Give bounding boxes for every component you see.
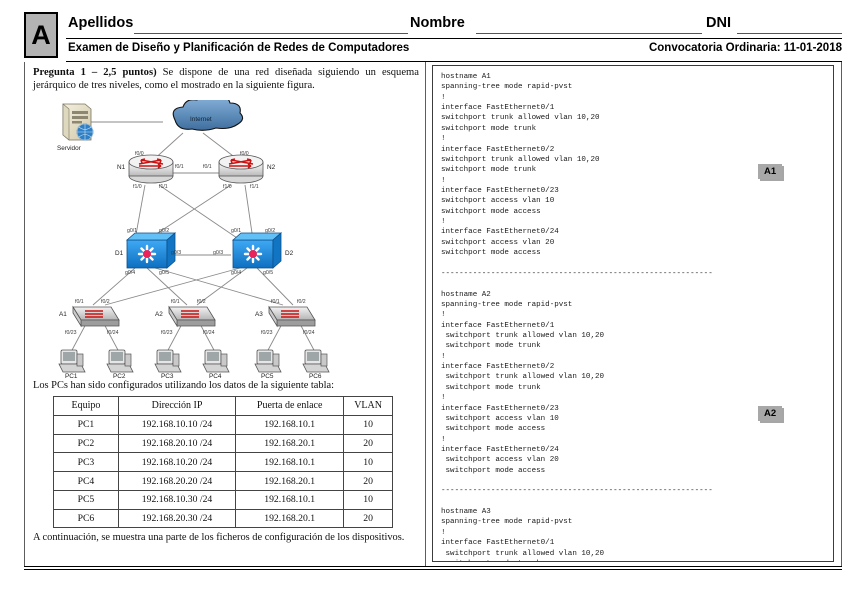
- cell-gateway: 192.168.20.1: [236, 434, 344, 453]
- pc3-label: PC3: [161, 373, 173, 380]
- cell-ip: 192.168.20.20 /24: [118, 472, 235, 491]
- network-topology-diagram: Servidor Internet N1 N2 D1 D2 A1 A2 A3 P…: [35, 100, 415, 375]
- cell-ip: 192.168.10.20 /24: [118, 453, 235, 472]
- cell-ip: 192.168.10.30 /24: [118, 490, 235, 509]
- port-a1-24: f0/24: [107, 330, 119, 336]
- label-apellidos: Apellidos: [68, 15, 133, 31]
- port-d1-up-left: g0/1: [127, 228, 137, 234]
- cloud-label: Internet: [190, 116, 212, 123]
- cell-equipo: PC6: [54, 509, 119, 528]
- label-nombre: Nombre: [410, 15, 465, 31]
- port-n2-up: f0/0: [240, 151, 249, 157]
- switch-a2-label: A2: [155, 311, 163, 318]
- switch-a3-icon: [269, 307, 315, 326]
- device-tag-a1: A1: [758, 164, 782, 179]
- apellidos-blank-line[interactable]: [134, 33, 408, 34]
- device-tag-a2: A2: [758, 406, 782, 421]
- header-fields: Apellidos Nombre DNI Examen de Diseño y …: [66, 12, 842, 58]
- server-icon: [63, 104, 93, 140]
- switch-d2-icon: [233, 233, 281, 268]
- dni-blank-line[interactable]: [737, 33, 842, 34]
- router-n2-icon: [219, 155, 263, 183]
- nombre-blank-line[interactable]: [476, 33, 702, 34]
- port-a2-23: f0/23: [161, 330, 173, 336]
- port-n1-up: f0/0: [135, 151, 144, 157]
- header-title-row: Examen de Diseño y Planificación de Rede…: [66, 38, 842, 59]
- cell-ip: 192.168.20.10 /24: [118, 434, 235, 453]
- port-d1-up-right: g0/2: [159, 228, 169, 234]
- table-row: PC5 192.168.10.30 /24 192.168.10.1 10: [54, 490, 393, 509]
- cell-gateway: 192.168.10.1: [236, 415, 344, 434]
- router-n1-icon: [129, 155, 173, 183]
- table-header-row: Equipo Dirección IP Puerta de enlace VLA…: [54, 397, 393, 416]
- right-column: hostname A1 spanning-tree mode rapid-pvs…: [426, 62, 843, 567]
- table-row: PC3 192.168.10.20 /24 192.168.10.1 10: [54, 453, 393, 472]
- switch-d2-label: D2: [285, 250, 293, 257]
- port-d1-right: g0/3: [171, 250, 181, 256]
- port-n2-down-right: f1/1: [250, 184, 259, 190]
- port-a1-up-right: f0/2: [101, 299, 110, 305]
- port-a1-up-left: f0/1: [75, 299, 84, 305]
- port-d2-down-right: g0/5: [263, 270, 273, 276]
- switch-a3-label: A3: [255, 311, 263, 318]
- port-a3-up-right: f0/2: [297, 299, 306, 305]
- pc5-label: PC5: [261, 373, 273, 380]
- cell-equipo: PC4: [54, 472, 119, 491]
- cell-vlan: 20: [344, 434, 393, 453]
- topology-svg: [35, 100, 415, 375]
- cell-gateway: 192.168.10.1: [236, 453, 344, 472]
- port-d2-up-right: g0/2: [265, 228, 275, 234]
- config-listing-box: hostname A1 spanning-tree mode rapid-pvs…: [432, 65, 834, 562]
- question-statement: Pregunta 1 – 2,5 puntos) Se dispone de u…: [33, 66, 419, 92]
- cell-gateway: 192.168.10.1: [236, 490, 344, 509]
- exam-page: A Apellidos Nombre DNI Examen de Diseño …: [0, 0, 848, 599]
- table-row: PC4 192.168.20.20 /24 192.168.20.1 20: [54, 472, 393, 491]
- port-n1-right: f0/1: [175, 164, 184, 170]
- port-a3-23: f0/23: [261, 330, 273, 336]
- port-a1-23: f0/23: [65, 330, 77, 336]
- cell-vlan: 10: [344, 490, 393, 509]
- port-n1-down-left: f1/0: [133, 184, 142, 190]
- port-d2-up-left: g0/1: [231, 228, 241, 234]
- port-d2-down-left: g0/4: [231, 270, 241, 276]
- pc2-label: PC2: [113, 373, 125, 380]
- port-a2-up-left: f0/1: [171, 299, 180, 305]
- cell-ip: 192.168.10.10 /24: [118, 415, 235, 434]
- pc6-label: PC6: [309, 373, 321, 380]
- pc-icons: [59, 350, 329, 372]
- switch-a1-icon: [73, 307, 119, 326]
- label-dni: DNI: [706, 15, 731, 31]
- exam-title: Examen de Diseño y Planificación de Rede…: [68, 42, 409, 54]
- pc1-label: PC1: [65, 373, 77, 380]
- cell-vlan: 20: [344, 509, 393, 528]
- question-heading: Pregunta 1 – 2,5 puntos): [33, 67, 157, 78]
- table-row: PC1 192.168.10.10 /24 192.168.10.1 10: [54, 415, 393, 434]
- cell-vlan: 20: [344, 472, 393, 491]
- port-a3-24: f0/24: [303, 330, 315, 336]
- pc-configuration-table: Equipo Dirección IP Puerta de enlace VLA…: [53, 396, 393, 528]
- content-frame: Pregunta 1 – 2,5 puntos) Se dispone de u…: [24, 62, 842, 567]
- table-intro-text: Los PCs han sido configurados utilizando…: [33, 380, 419, 391]
- cell-equipo: PC5: [54, 490, 119, 509]
- port-d2-left: g0/3: [213, 250, 223, 256]
- switch-d1-icon: [127, 233, 175, 268]
- port-a3-up-left: f0/1: [271, 299, 280, 305]
- cell-vlan: 10: [344, 415, 393, 434]
- exam-variant-badge: A: [24, 12, 58, 58]
- exam-header: A Apellidos Nombre DNI Examen de Diseño …: [24, 12, 842, 58]
- cell-vlan: 10: [344, 453, 393, 472]
- port-n1-down-right: f1/1: [159, 184, 168, 190]
- router-n2-label: N2: [267, 164, 275, 171]
- convocatoria-text: Convocatoria Ordinaria: 11-01-2018: [649, 42, 842, 54]
- th-vlan: VLAN: [344, 397, 393, 416]
- port-a2-24: f0/24: [203, 330, 215, 336]
- header-name-row: Apellidos Nombre DNI: [66, 12, 842, 38]
- table-row: PC2 192.168.20.10 /24 192.168.20.1 20: [54, 434, 393, 453]
- config-intro-text: A continuación, se muestra una parte de …: [33, 532, 419, 543]
- port-n2-down-left: f1/0: [223, 184, 232, 190]
- left-column: Pregunta 1 – 2,5 puntos) Se dispone de u…: [25, 62, 425, 567]
- switch-d1-label: D1: [115, 250, 123, 257]
- config-text: hostname A1 spanning-tree mode rapid-pvs…: [433, 66, 833, 562]
- port-d1-down-left: g0/4: [125, 270, 135, 276]
- cell-ip: 192.168.20.30 /24: [118, 509, 235, 528]
- cell-gateway: 192.168.20.1: [236, 509, 344, 528]
- port-n2-left: f0/1: [203, 164, 212, 170]
- cell-equipo: PC1: [54, 415, 119, 434]
- cell-equipo: PC2: [54, 434, 119, 453]
- th-puerta-enlace: Puerta de enlace: [236, 397, 344, 416]
- table-row: PC6 192.168.20.30 /24 192.168.20.1 20: [54, 509, 393, 528]
- cell-equipo: PC3: [54, 453, 119, 472]
- th-equipo: Equipo: [54, 397, 119, 416]
- router-n1-label: N1: [117, 164, 125, 171]
- port-a2-up-right: f0/2: [197, 299, 206, 305]
- pc4-label: PC4: [209, 373, 221, 380]
- th-direccion-ip: Dirección IP: [118, 397, 235, 416]
- cell-gateway: 192.168.20.1: [236, 472, 344, 491]
- server-label: Servidor: [57, 145, 81, 152]
- switch-a1-label: A1: [59, 311, 67, 318]
- port-d1-down-right: g0/5: [159, 270, 169, 276]
- switch-a2-icon: [169, 307, 215, 326]
